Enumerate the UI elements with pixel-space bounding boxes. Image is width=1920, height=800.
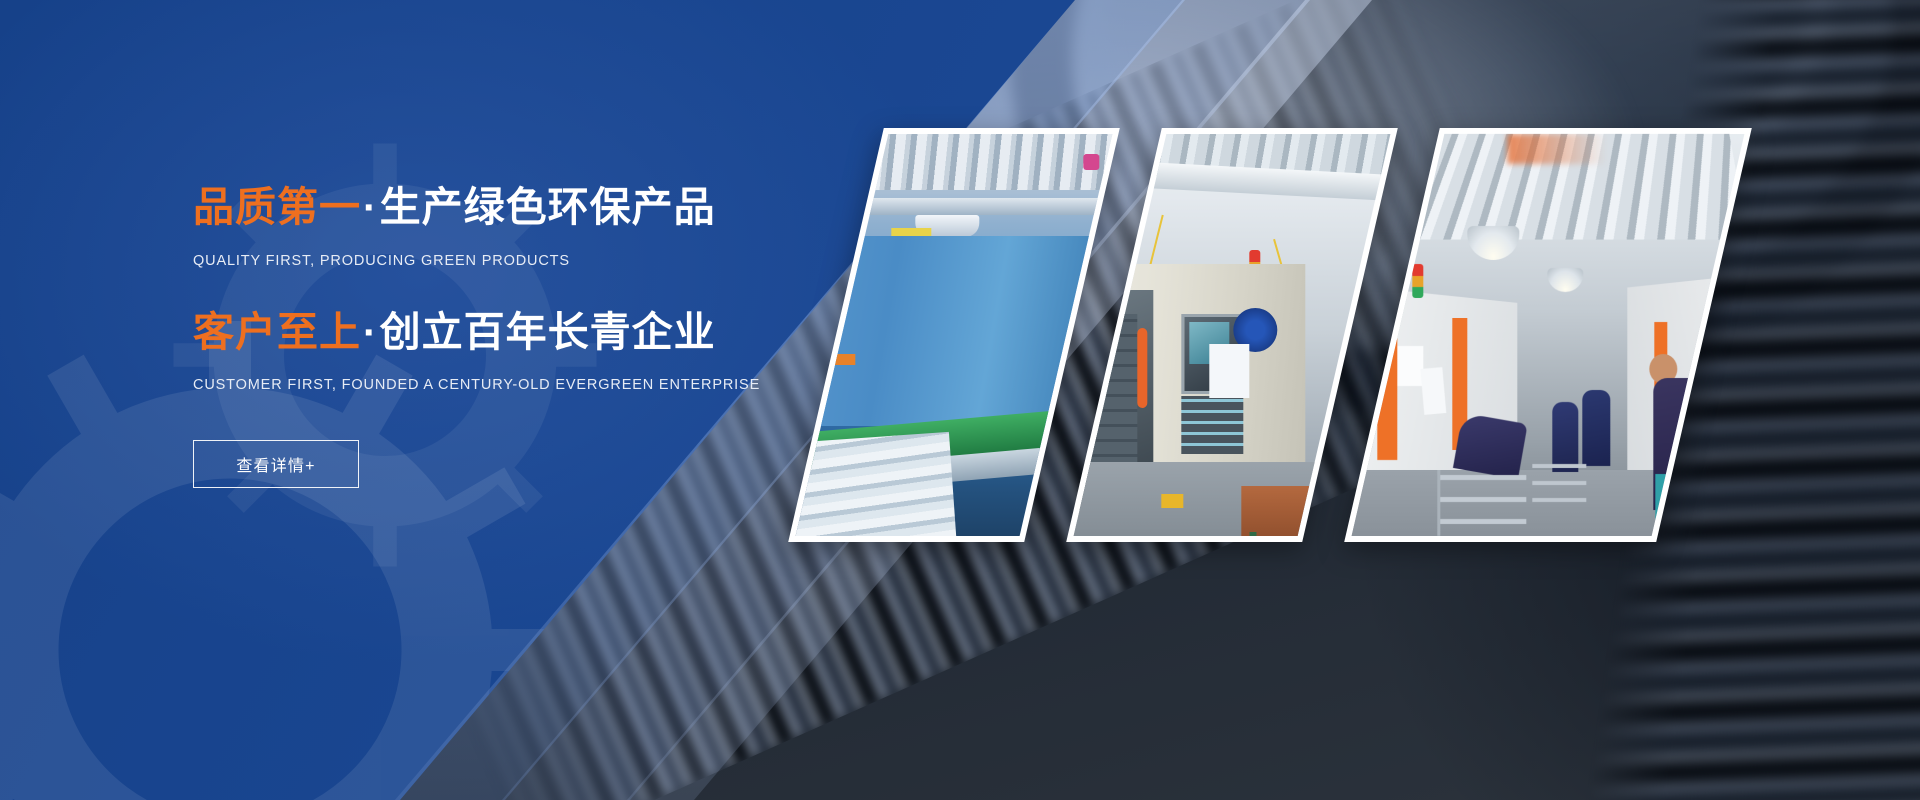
view-details-button[interactable]: 查看详情+ (193, 440, 359, 488)
hero-copy: 品质第一·生产绿色环保产品 QUALITY FIRST, PRODUCING G… (193, 186, 833, 488)
headline-primary-rest: 生产绿色环保产品 (380, 184, 716, 230)
headline-secondary-separator: · (361, 309, 380, 355)
subtitle-primary: QUALITY FIRST, PRODUCING GREEN PRODUCTS (193, 253, 833, 269)
hero-banner: 品质第一·生产绿色环保产品 QUALITY FIRST, PRODUCING G… (0, 0, 1920, 800)
cnc-machine-row-photo (1074, 134, 1391, 536)
headline-secondary-accent: 客户至上 (193, 309, 361, 355)
headline-primary: 品质第一·生产绿色环保产品 (193, 186, 833, 229)
gallery-card-1[interactable] (788, 128, 1120, 542)
gallery-card-3[interactable] (1344, 128, 1752, 542)
subtitle-secondary: CUSTOMER FIRST, FOUNDED A CENTURY-OLD EV… (193, 377, 833, 393)
headline-secondary-rest: 创立百年长青企业 (380, 309, 716, 355)
headline-secondary: 客户至上·创立百年长青企业 (193, 311, 833, 354)
assembly-line-worker-photo (796, 134, 1113, 536)
headline-primary-accent: 品质第一 (193, 184, 361, 230)
headline-primary-separator: · (361, 184, 380, 230)
gallery-card-2[interactable] (1066, 128, 1398, 542)
factory-corridor-workers-photo (1352, 134, 1745, 536)
